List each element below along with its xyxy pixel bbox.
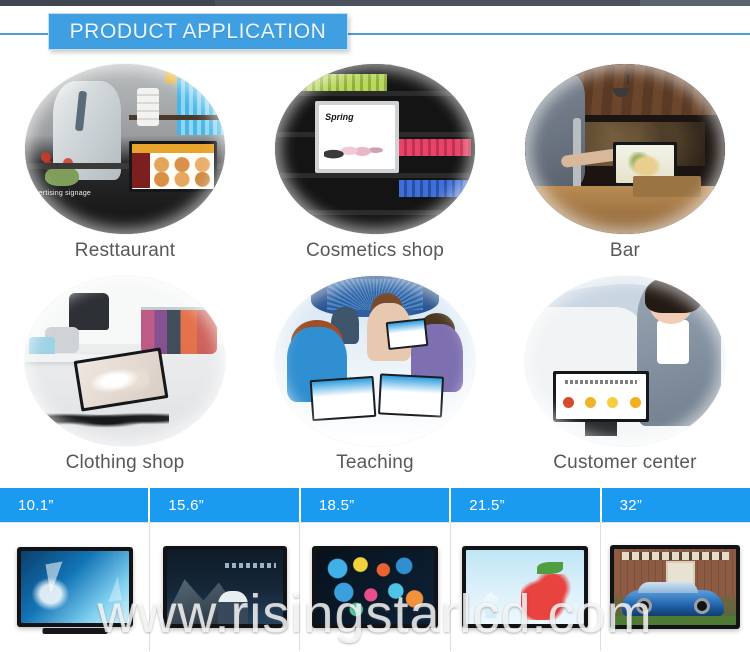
screen-food-graphic (628, 152, 664, 176)
application-item-restaurant[interactable]: dvertising signage Resttaurant (0, 62, 250, 274)
size-label: 21.5” (451, 497, 505, 514)
product-bottles-pink (399, 139, 471, 156)
emoji-rating-row (563, 393, 640, 411)
application-image-restaurant: dvertising signage (25, 64, 225, 234)
tablet-screen (380, 375, 442, 415)
application-label-customer-center: Customer center (553, 452, 696, 474)
size-label-bar: 10.1” 15.6” 18.5” 21.5” 32” (0, 488, 750, 522)
screen-hand-graphic (29, 575, 72, 612)
product-bottles-green (291, 74, 387, 91)
monitor-device (312, 546, 438, 628)
screen-glass (556, 374, 646, 419)
application-item-clothing-shop[interactable]: Clothing shop (0, 274, 250, 486)
screen-glass (132, 144, 214, 189)
receptionist-blouse (657, 320, 689, 364)
size-label: 32” (602, 497, 643, 514)
feedback-kiosk-screen (553, 371, 649, 422)
application-item-customer-center[interactable]: Customer center (500, 274, 750, 486)
tablet-screen (388, 320, 426, 347)
display-shirt (69, 293, 109, 330)
shoes-display (37, 409, 169, 429)
scene-cosmetics-shop: Spring (275, 64, 475, 234)
neutral-emoji-icon (585, 397, 596, 408)
size-label: 10.1” (0, 497, 54, 514)
screen-glass (77, 351, 165, 408)
device-screen (466, 550, 584, 624)
blue-curtain (177, 78, 225, 136)
application-row-1: dvertising signage Resttaurant (0, 62, 750, 274)
product-thumbnail-row (0, 522, 750, 651)
product-thumbnail-32[interactable] (601, 523, 750, 651)
showroom-car (525, 307, 645, 382)
menu-food-tiles (152, 155, 213, 187)
monitor-device (462, 546, 588, 628)
kiosk-stand (585, 422, 617, 436)
store-shelf (275, 173, 475, 178)
application-image-bar (525, 64, 725, 234)
flower-vase (41, 152, 81, 186)
application-item-teaching[interactable]: Teaching (250, 274, 500, 486)
classroom-tablet (378, 373, 444, 418)
size-label: 15.6” (150, 497, 204, 514)
application-label-clothing-shop: Clothing shop (66, 452, 185, 474)
scene-customer-center (525, 276, 725, 446)
device-screen (614, 549, 736, 625)
screen-fashion-graphic (89, 360, 150, 399)
tablet-screen (312, 378, 374, 419)
screen-app-tiles-graphic (323, 554, 427, 619)
product-bottles-blue (399, 180, 471, 197)
application-image-clothing-shop (25, 276, 225, 446)
application-label-restaurant: Resttaurant (75, 240, 175, 262)
happy-emoji-icon (607, 397, 618, 408)
application-image-cosmetics-shop: Spring (275, 64, 475, 234)
page-title: PRODUCT APPLICATION (70, 20, 327, 44)
screen-product-graphics (324, 131, 391, 164)
screen-question-text (565, 380, 637, 385)
size-cell-15-6[interactable]: 15.6” (150, 488, 300, 522)
store-shelf (275, 210, 475, 215)
receptionist-hair (645, 276, 701, 313)
application-label-cosmetics-shop: Cosmetics shop (306, 240, 444, 262)
monitor-device (163, 546, 287, 628)
page-header: PRODUCT APPLICATION (0, 6, 750, 58)
product-application-page: PRODUCT APPLICATION (0, 0, 750, 652)
device-screen (21, 551, 129, 623)
screen-eave-graphic (622, 552, 729, 560)
pendant-lamp-wire (627, 74, 629, 84)
screen-text-spring: Spring (325, 112, 354, 122)
section-title-banner: PRODUCT APPLICATION (48, 13, 348, 50)
device-stand (42, 628, 107, 634)
product-thumbnail-18-5[interactable] (300, 523, 450, 651)
application-row-2: Clothing shop (0, 274, 750, 486)
stacked-cups (137, 88, 159, 126)
product-thumbnail-15-6[interactable] (150, 523, 300, 651)
application-item-bar[interactable]: Bar (500, 62, 750, 274)
screen-text-graphic (225, 563, 276, 568)
application-item-cosmetics-shop[interactable]: Spring Cosmetics shop (250, 62, 500, 274)
digital-menu-screen (129, 141, 217, 192)
scene-restaurant: dvertising signage (25, 64, 225, 234)
car-wheel (694, 598, 710, 614)
screen-ice-graphic (483, 589, 518, 619)
size-cell-18-5[interactable]: 18.5” (301, 488, 451, 522)
product-thumbnail-10-1[interactable] (0, 523, 150, 651)
application-grid: dvertising signage Resttaurant (0, 62, 750, 486)
car-wheel (636, 598, 652, 614)
size-label: 18.5” (301, 497, 355, 514)
size-range-panel: 10.1” 15.6” 18.5” 21.5” 32” (0, 488, 750, 652)
angry-emoji-icon (563, 397, 574, 408)
size-cell-10-1[interactable]: 10.1” (0, 488, 150, 522)
tablet-device (17, 547, 133, 627)
screen-umbrella-graphic (537, 562, 563, 574)
screen-glass: Spring (319, 105, 395, 168)
menu-sidebar (132, 153, 150, 188)
surprised-emoji-icon (630, 397, 641, 408)
application-image-customer-center (525, 276, 725, 446)
application-label-bar: Bar (610, 240, 640, 262)
scene-bar (525, 64, 725, 234)
screen-person-graphic (218, 591, 248, 624)
screen-grass-graphic (614, 616, 736, 625)
store-shelf (275, 91, 475, 96)
device-screen (167, 550, 283, 624)
advertising-screen: Spring (315, 101, 399, 172)
classroom-tablet (386, 318, 429, 350)
application-image-teaching (275, 276, 475, 446)
menu-header-bar (132, 144, 214, 154)
screen-watermelon-graphic (521, 574, 573, 620)
application-label-teaching: Teaching (336, 452, 414, 474)
hanging-clothes (141, 310, 217, 354)
size-cell-21-5[interactable]: 21.5” (451, 488, 601, 522)
screen-overlay-caption: dvertising signage (31, 190, 91, 197)
classroom-tablet (310, 376, 377, 422)
screen-sports-car-graphic (622, 590, 724, 616)
size-cell-32[interactable]: 32” (602, 488, 750, 522)
scene-teaching (275, 276, 475, 446)
scene-clothing-shop (25, 276, 225, 446)
cutting-boards (633, 176, 701, 196)
monitor-device (610, 545, 740, 629)
device-screen (316, 550, 434, 624)
product-thumbnail-21-5[interactable] (451, 523, 601, 651)
